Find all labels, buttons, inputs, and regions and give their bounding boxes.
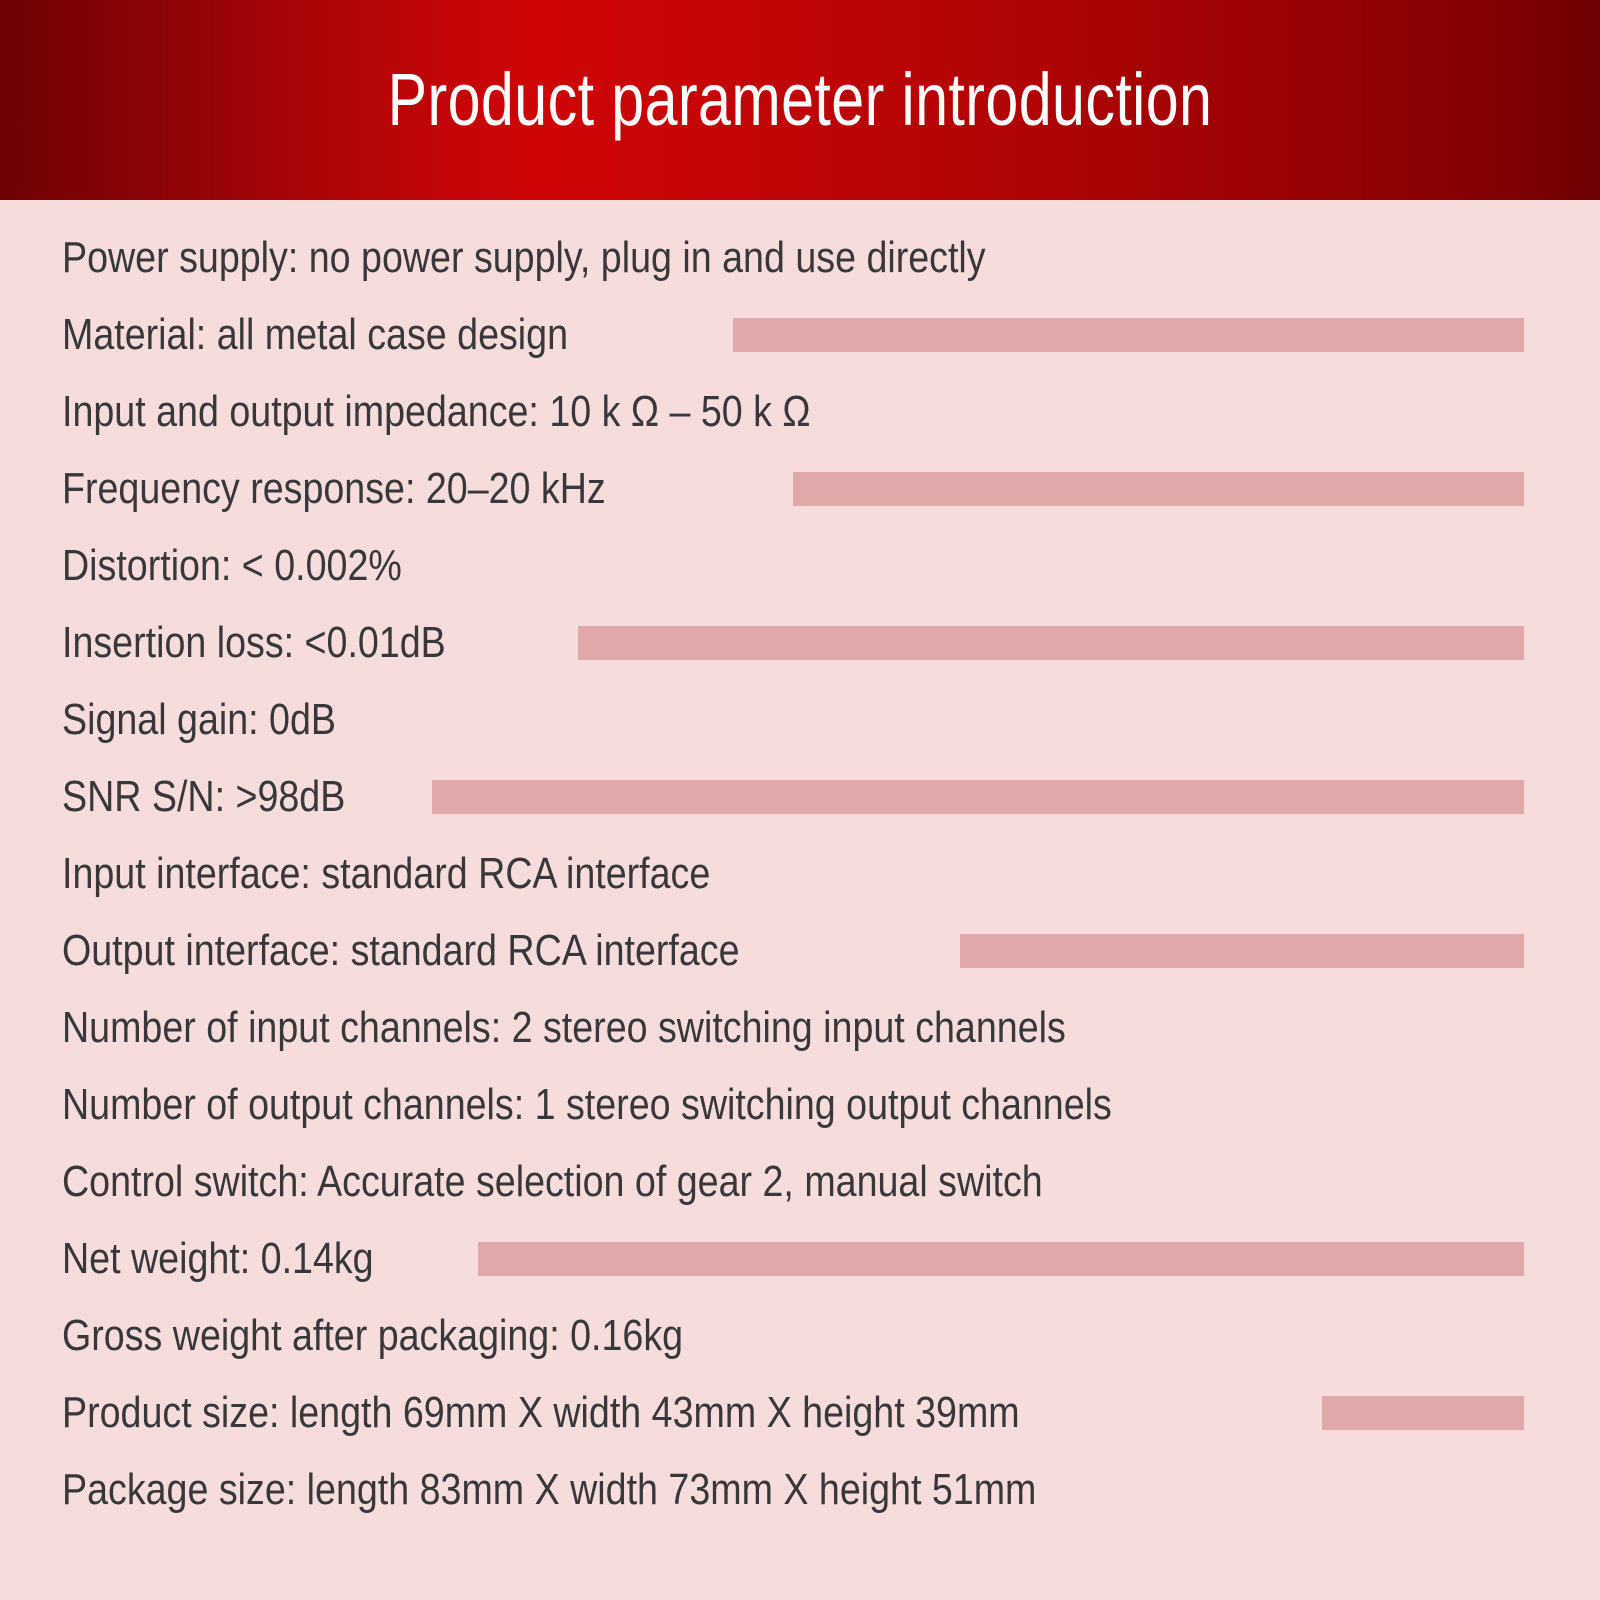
spec-text: Product size: length 69mm X width 43mm X… xyxy=(62,1374,1020,1451)
spec-text: Distortion: < 0.002% xyxy=(62,527,402,604)
spec-list: Power supply: no power supply, plug in a… xyxy=(0,200,1600,1600)
highlight-bar xyxy=(432,780,1524,814)
spec-text: Power supply: no power supply, plug in a… xyxy=(62,219,986,296)
spec-text: Control switch: Accurate selection of ge… xyxy=(62,1143,1043,1220)
spec-text: Package size: length 83mm X width 73mm X… xyxy=(62,1451,1036,1528)
spec-text: SNR S/N: >98dB xyxy=(62,758,345,835)
spec-text: Net weight: 0.14kg xyxy=(62,1220,374,1297)
spec-text: Frequency response: 20–20 kHz xyxy=(62,450,606,527)
spec-row: Number of output channels: 1 stereo swit… xyxy=(0,1066,1600,1143)
highlight-bar xyxy=(478,1242,1524,1276)
spec-text: Input and output impedance: 10 k Ω – 50 … xyxy=(62,373,811,450)
spec-text: Input interface: standard RCA interface xyxy=(62,835,710,912)
spec-text: Number of output channels: 1 stereo swit… xyxy=(62,1066,1112,1143)
spec-text: Gross weight after packaging: 0.16kg xyxy=(62,1297,683,1374)
highlight-bar xyxy=(793,472,1524,506)
spec-text: Number of input channels: 2 stereo switc… xyxy=(62,989,1066,1066)
spec-row: Input interface: standard RCA interface xyxy=(0,835,1600,912)
spec-row: Number of input channels: 2 stereo switc… xyxy=(0,989,1600,1066)
spec-row: Insertion loss: <0.01dB xyxy=(0,604,1600,681)
spec-row: Distortion: < 0.002% xyxy=(0,527,1600,604)
highlight-bar xyxy=(960,934,1524,968)
spec-row: Signal gain: 0dB xyxy=(0,681,1600,758)
spec-text: Insertion loss: <0.01dB xyxy=(62,604,446,681)
spec-row: Output interface: standard RCA interface xyxy=(0,912,1600,989)
spec-row: Material: all metal case design xyxy=(0,296,1600,373)
spec-text: Signal gain: 0dB xyxy=(62,681,336,758)
spec-text: Output interface: standard RCA interface xyxy=(62,912,740,989)
page-title: Product parameter introduction xyxy=(160,0,1440,200)
spec-row: Input and output impedance: 10 k Ω – 50 … xyxy=(0,373,1600,450)
spec-text: Material: all metal case design xyxy=(62,296,568,373)
spec-row: SNR S/N: >98dB xyxy=(0,758,1600,835)
highlight-bar xyxy=(1322,1396,1524,1430)
spec-row: Package size: length 83mm X width 73mm X… xyxy=(0,1451,1600,1528)
highlight-bar xyxy=(578,626,1524,660)
product-parameter-page: Product parameter introduction Power sup… xyxy=(0,0,1600,1600)
spec-row: Product size: length 69mm X width 43mm X… xyxy=(0,1374,1600,1451)
spec-row: Gross weight after packaging: 0.16kg xyxy=(0,1297,1600,1374)
highlight-bar xyxy=(733,318,1524,352)
page-header: Product parameter introduction xyxy=(0,0,1600,200)
spec-row: Power supply: no power supply, plug in a… xyxy=(0,219,1600,296)
spec-row: Net weight: 0.14kg xyxy=(0,1220,1600,1297)
spec-row: Control switch: Accurate selection of ge… xyxy=(0,1143,1600,1220)
spec-row: Frequency response: 20–20 kHz xyxy=(0,450,1600,527)
